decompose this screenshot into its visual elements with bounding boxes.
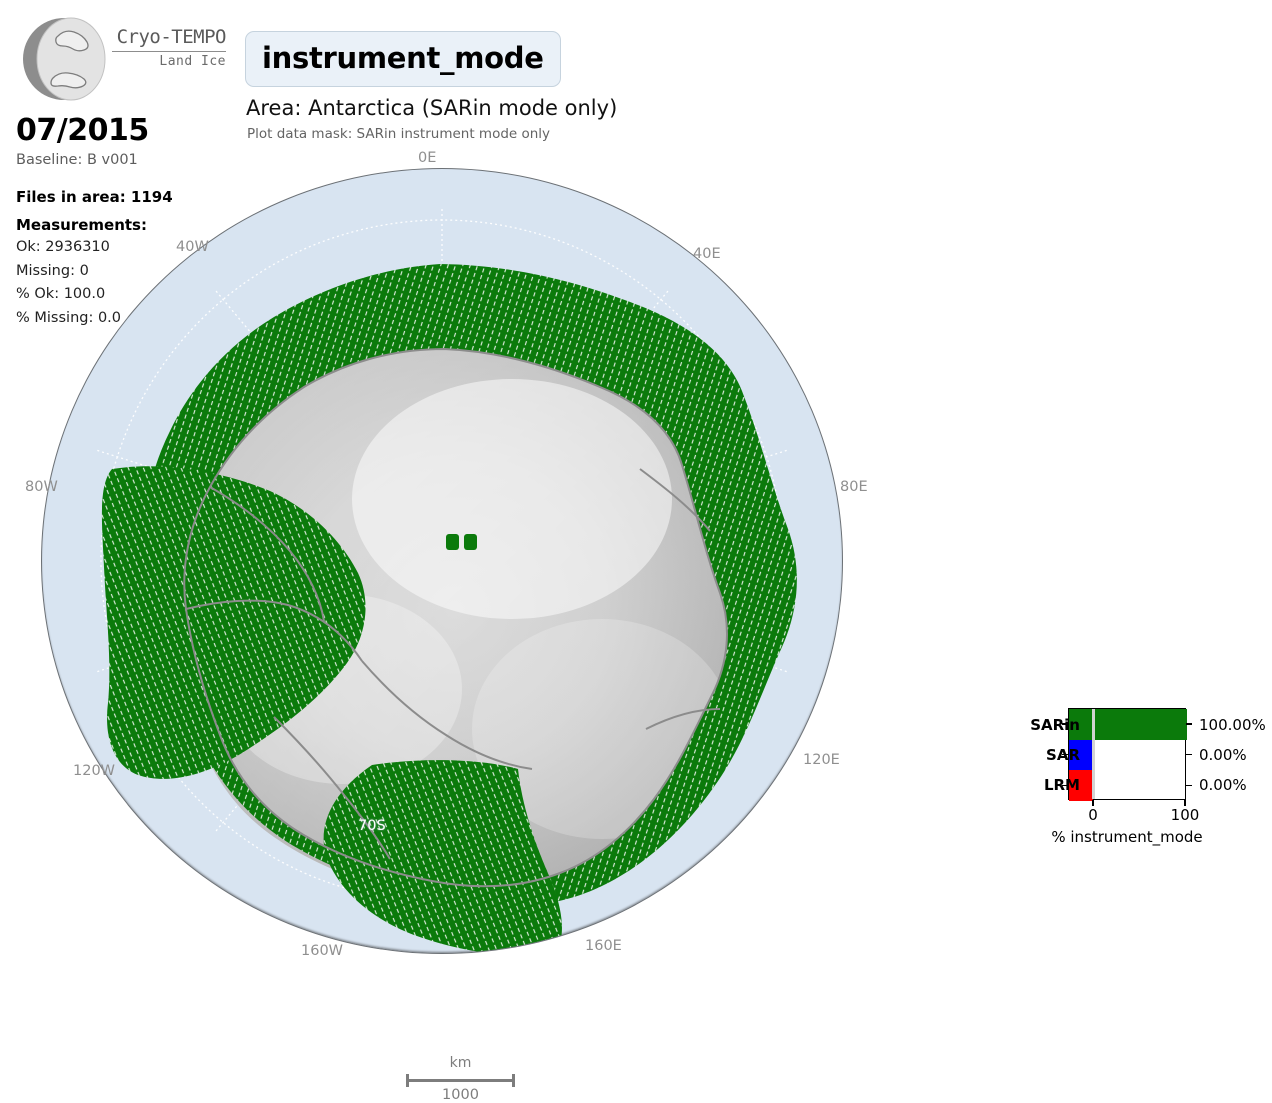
ytick-lrm-left bbox=[1062, 785, 1068, 787]
ytick-sarin-left bbox=[1062, 723, 1068, 725]
antarctica-ice-sheet bbox=[42, 169, 842, 953]
lon-label-0e: 0E bbox=[418, 150, 436, 166]
mask-subtitle: Plot data mask: SARin instrument mode on… bbox=[247, 126, 550, 142]
ytick-sar-right bbox=[1186, 754, 1192, 756]
value-label-sarin: 100.00% bbox=[1199, 716, 1266, 734]
brand-logo: Cryo-TEMPO Land Ice bbox=[14, 12, 229, 104]
globe-icon bbox=[20, 14, 108, 102]
bar-label-sarin: SARin bbox=[1030, 716, 1080, 734]
lon-label-80w: 80W bbox=[25, 479, 58, 495]
lon-label-120e: 120E bbox=[803, 752, 840, 768]
bar-chart-plot-area bbox=[1068, 708, 1186, 800]
date-label: 07/2015 bbox=[16, 113, 231, 149]
scale-bar-length: 1000 bbox=[378, 1087, 543, 1103]
logo-title: Cryo-TEMPO bbox=[106, 26, 226, 48]
scale-bar: km 1000 bbox=[378, 1055, 543, 1103]
scale-bar-graphic bbox=[378, 1074, 543, 1086]
logo-divider bbox=[112, 51, 226, 52]
lon-label-80e: 80E bbox=[840, 479, 868, 495]
ytick-lrm-right bbox=[1186, 785, 1192, 787]
polar-map-disc bbox=[41, 168, 843, 954]
area-title: Area: Antarctica (SARin mode only) bbox=[246, 96, 617, 120]
bar-chart-xaxis-title: % instrument_mode bbox=[1051, 828, 1202, 846]
map-figure: 0E 40E 80E 120E 160E 160W 120W 80W 40W 7… bbox=[33, 160, 845, 960]
variable-badge-label: instrument_mode bbox=[262, 41, 544, 75]
lon-label-160w: 160W bbox=[301, 943, 343, 959]
variable-badge: instrument_mode bbox=[245, 31, 561, 87]
xtick-label-0: 0 bbox=[1088, 806, 1098, 824]
scale-bar-units: km bbox=[378, 1055, 543, 1071]
lat-label-70s: 70S bbox=[358, 818, 386, 834]
xtick-label-100: 100 bbox=[1171, 806, 1200, 824]
lon-label-40w: 40W bbox=[176, 239, 209, 255]
pole-patch-right bbox=[464, 534, 477, 550]
lon-label-120w: 120W bbox=[73, 763, 115, 779]
lon-label-40e: 40E bbox=[693, 246, 721, 262]
bar-sarin bbox=[1069, 709, 1187, 740]
ytick-sarin-right bbox=[1186, 723, 1192, 725]
pole-patch-left bbox=[446, 534, 459, 550]
logo-subtitle: Land Ice bbox=[106, 54, 226, 69]
lon-label-160e: 160E bbox=[585, 938, 622, 954]
ytick-sar-left bbox=[1062, 754, 1068, 756]
instrument-mode-bar-chart: SARin SAR LRM 100.00% 0.00% 0.00% 0 100 … bbox=[1006, 700, 1266, 850]
value-label-lrm: 0.00% bbox=[1199, 776, 1247, 794]
value-label-sar: 0.00% bbox=[1199, 746, 1247, 764]
globe-icon-svg bbox=[20, 14, 108, 102]
zero-line bbox=[1092, 709, 1095, 799]
